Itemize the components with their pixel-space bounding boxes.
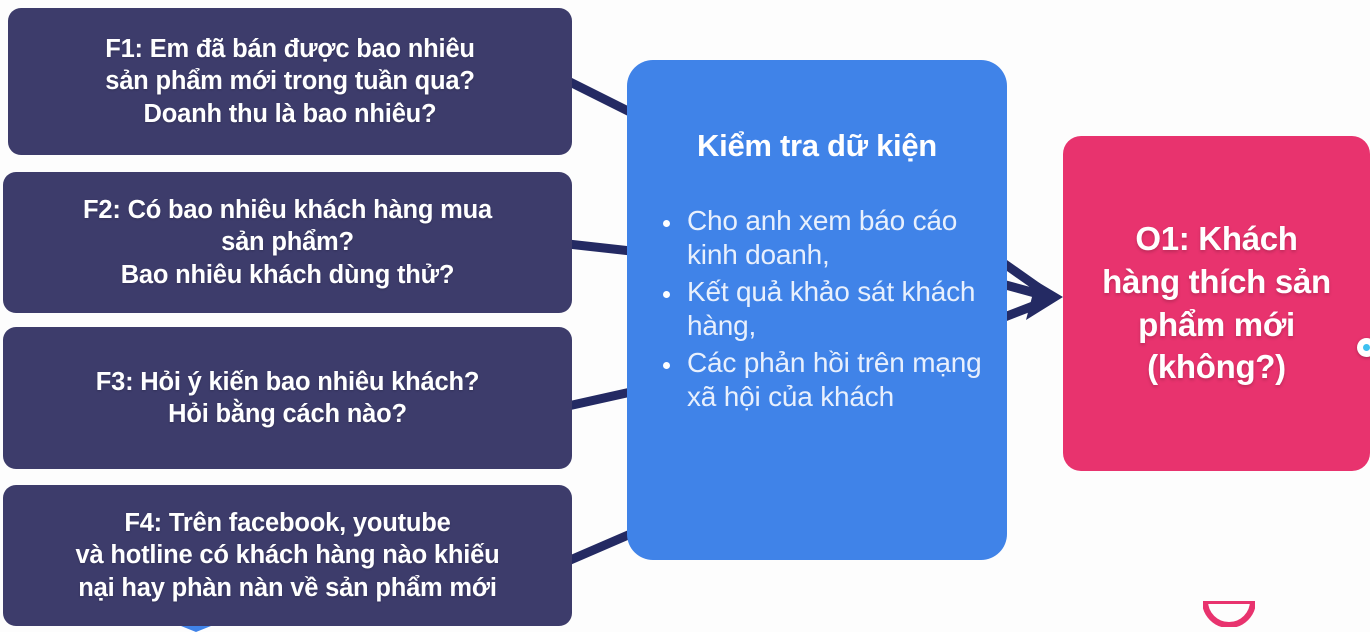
check-data-bullet-2: Kết quả khảo sát khách hàng, <box>649 275 989 344</box>
outcome-o1-line-3: phẩm mới <box>1138 304 1295 347</box>
diagram-canvas: F1: Em đã bán được bao nhiêu sản phẩm mớ… <box>0 0 1370 632</box>
factor-f4-line-1: F4: Trên facebook, youtube <box>124 507 450 539</box>
factor-f2-line-2: sản phẩm? <box>221 226 354 258</box>
factor-f4-line-2: và hotline có khách hàng nào khiếu <box>76 539 500 571</box>
check-data-bullet-3: Các phản hồi trên mạng xã hội của khách <box>649 346 989 415</box>
resize-handle-right[interactable] <box>1357 338 1370 357</box>
factor-f3-line-2: Hỏi bằng cách nào? <box>168 398 407 430</box>
factor-box-f3[interactable]: F3: Hỏi ý kiến bao nhiêu khách? Hỏi bằng… <box>3 327 572 469</box>
factor-f1-line-1: F1: Em đã bán được bao nhiêu <box>105 33 475 65</box>
connector-check-to-outcome-upper <box>1002 262 1046 293</box>
connector-check-to-outcome-middle <box>1002 284 1046 296</box>
outcome-o1-line-1: O1: Khách <box>1135 218 1297 261</box>
factor-f1-line-2: sản phẩm mới trong tuần qua? <box>105 65 475 97</box>
arrowhead-to-outcome <box>1026 275 1063 320</box>
factor-f1-line-3: Doanh thu là bao nhiêu? <box>144 98 437 130</box>
factor-box-f2[interactable]: F2: Có bao nhiêu khách hàng mua sản phẩm… <box>3 172 572 313</box>
factor-box-f1[interactable]: F1: Em đã bán được bao nhiêu sản phẩm mớ… <box>8 8 572 155</box>
outcome-box-o1[interactable]: O1: Khách hàng thích sản phẩm mới (không… <box>1063 136 1370 471</box>
outcome-o1-line-2: hàng thích sản <box>1102 261 1331 304</box>
factor-f4-line-3: nại hay phàn nàn về sản phẩm mới <box>78 572 496 604</box>
check-data-bullet-1: Cho anh xem báo cáo kinh doanh, <box>649 204 989 273</box>
smile-logo-icon <box>1203 601 1255 627</box>
check-data-title: Kiểm tra dữ kiện <box>627 128 1007 164</box>
outcome-o1-line-4: (không?) <box>1147 346 1286 389</box>
factor-f2-line-3: Bao nhiêu khách dùng thử? <box>121 259 455 291</box>
factor-box-f4[interactable]: F4: Trên facebook, youtube và hotline có… <box>3 485 572 626</box>
check-data-box[interactable]: Kiểm tra dữ kiện Cho anh xem báo cáo kin… <box>627 60 1007 560</box>
connector-check-to-outcome-lower <box>1002 301 1046 318</box>
factor-f2-line-1: F2: Có bao nhiêu khách hàng mua <box>83 194 492 226</box>
check-data-bullet-list: Cho anh xem báo cáo kinh doanh, Kết quả … <box>627 204 1007 417</box>
factor-f3-line-1: F3: Hỏi ý kiến bao nhiêu khách? <box>96 366 479 398</box>
